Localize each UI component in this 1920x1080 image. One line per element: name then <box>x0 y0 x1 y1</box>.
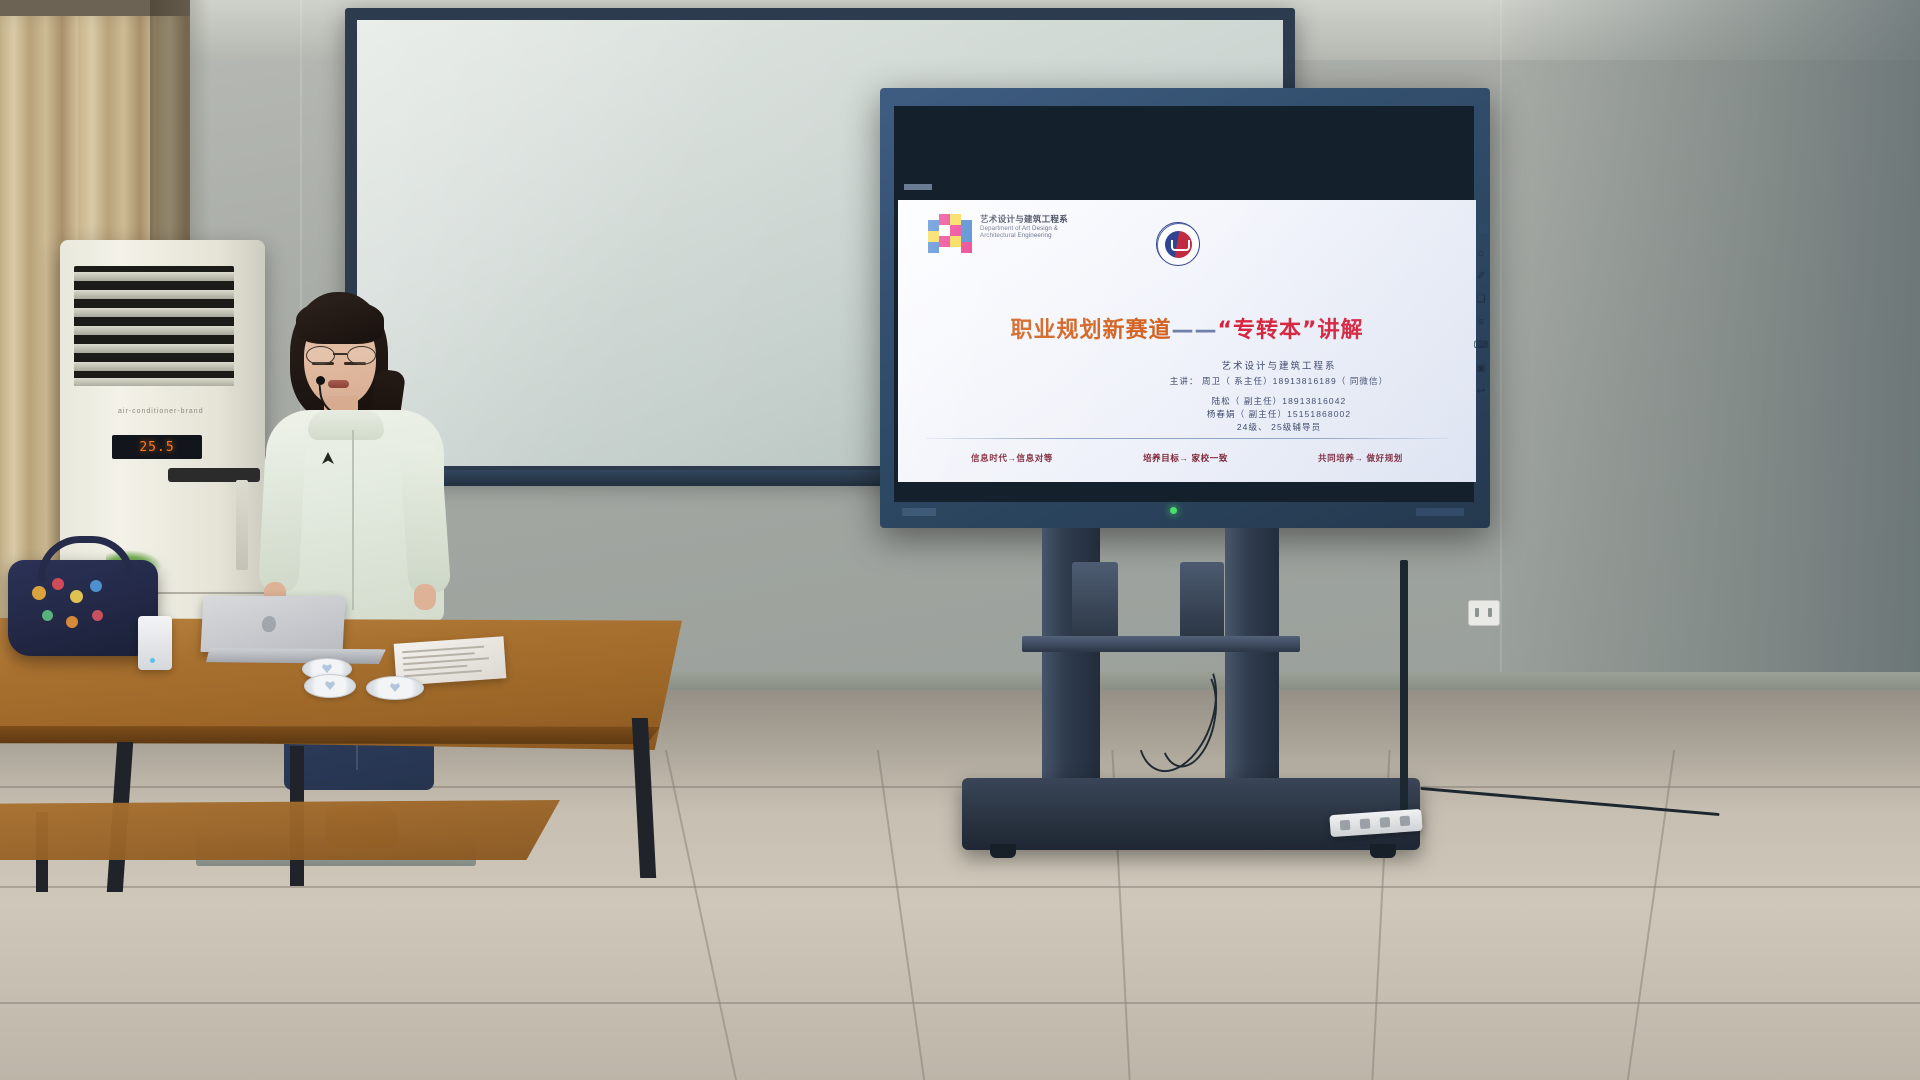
smart-display-assembly[interactable]: 艺术设计与建筑工程系 Department of Art Design & Ar… <box>880 88 1490 528</box>
jacket-hood <box>308 410 384 440</box>
portable-speaker[interactable] <box>138 616 172 670</box>
department-colorblock-logo <box>928 214 972 258</box>
bag-ornament <box>42 610 53 621</box>
display-ir-sensor <box>902 508 936 516</box>
display-stand-shelf <box>1022 636 1300 652</box>
subtitle-line-4: 24级、 25级辅导员 <box>1114 421 1444 434</box>
subtitle-line-3: 杨春娟（ 副主任）15151868002 <box>1114 408 1444 421</box>
microphone-capsule <box>316 376 325 385</box>
display-screen[interactable]: 艺术设计与建筑工程系 Department of Art Design & Ar… <box>898 200 1476 482</box>
classroom-photo-scene: air-conditioner-brand 25.5 <box>0 0 1920 1080</box>
seal-emblem <box>1165 231 1192 258</box>
presenter-hair-front <box>296 300 384 344</box>
socket-slot <box>1475 608 1479 617</box>
footer-item-2: 培养目标→ 家校一致 <box>1143 452 1228 464</box>
floor-tile-line <box>0 886 1920 888</box>
title-dash: —— <box>1172 318 1218 343</box>
display-side-toolbar[interactable]: ⌂ ✐ ❑ ≡ ⌨ ▣ ↩ <box>1470 246 1492 398</box>
eyeglasses <box>306 346 374 363</box>
slide-footer: 信息时代→信息对等 培养目标→ 家校一致 共同培养→ 做好规划 <box>926 452 1448 464</box>
title-quote-close: ” <box>1302 318 1317 343</box>
pen-icon[interactable]: ✐ <box>1474 269 1488 283</box>
title-quote-open: “ <box>1218 318 1233 343</box>
bag-ornament <box>66 616 78 628</box>
speaker-led <box>150 658 155 663</box>
bag-ornament <box>90 580 102 592</box>
bag-ornament <box>92 610 103 621</box>
laptop-logo <box>262 616 277 632</box>
jacket-emblem-icon <box>322 452 334 464</box>
title-part2: 讲解 <box>1317 318 1363 343</box>
stand-equipment-box-left <box>1072 562 1118 638</box>
ac-temperature-display: 25.5 <box>112 435 202 459</box>
slide-title: 职业规划新赛道——“专转本”讲解 <box>898 312 1476 344</box>
picture-icon[interactable]: ▣ <box>1474 361 1488 375</box>
title-highlight: 专转本 <box>1233 318 1302 343</box>
back-icon[interactable]: ↩ <box>1474 384 1488 398</box>
menu-icon[interactable]: ≡ <box>1474 315 1488 329</box>
stand-caster <box>990 844 1016 858</box>
desk-coaster <box>304 674 356 698</box>
ac-air-grille <box>74 266 234 386</box>
department-name-block: 艺术设计与建筑工程系 Department of Art Design & Ar… <box>980 214 1068 240</box>
display-bezel: 艺术设计与建筑工程系 Department of Art Design & Ar… <box>880 88 1490 528</box>
window-icon[interactable]: ❑ <box>1474 292 1488 306</box>
slide-divider-rule <box>926 438 1448 439</box>
ac-side-vent <box>236 480 248 570</box>
presenter-person <box>262 292 448 622</box>
slide-department-header: 艺术设计与建筑工程系 Department of Art Design & Ar… <box>928 214 1068 258</box>
school-seal <box>1156 222 1200 266</box>
ac-temperature-value: 25.5 <box>139 440 174 455</box>
footer-item-3: 共同培养→ 做好规划 <box>1318 452 1403 464</box>
wall-cable-drop <box>1400 560 1408 810</box>
desk-coaster <box>366 676 424 700</box>
bag-ornament <box>32 586 46 600</box>
stand-caster <box>1370 844 1396 858</box>
department-name-en-2: Architectural Engineering <box>980 232 1068 240</box>
presentation-slide: 艺术设计与建筑工程系 Department of Art Design & Ar… <box>898 200 1476 482</box>
department-name-cn: 艺术设计与建筑工程系 <box>980 214 1068 225</box>
socket-slot <box>1488 608 1492 617</box>
home-icon[interactable]: ⌂ <box>1474 246 1488 260</box>
slide-subtitle-block: 艺术设计与建筑工程系 主讲： 周卫（ 系主任）18913816189（ 同微信）… <box>1114 360 1444 434</box>
keyboard-icon[interactable]: ⌨ <box>1474 338 1488 352</box>
bag-ornament <box>52 578 64 590</box>
open-laptop[interactable] <box>201 596 346 652</box>
display-brand-plate <box>1416 508 1464 516</box>
display-brand-logo <box>904 184 932 190</box>
footer-item-1: 信息时代→信息对等 <box>971 452 1053 464</box>
subtitle-line-1: 主讲： 周卫（ 系主任）18913816189（ 同微信） <box>1114 375 1444 388</box>
desk-edge <box>0 726 660 744</box>
ac-brand-mark: air-conditioner-brand <box>118 408 204 415</box>
laptop-keyboard-base[interactable] <box>206 648 386 664</box>
stand-equipment-box-right <box>1180 562 1224 638</box>
wall-power-socket[interactable] <box>1468 600 1500 626</box>
floor-tile-line <box>0 1002 1920 1004</box>
department-name-en-1: Department of Art Design & <box>980 225 1068 233</box>
embroidered-backpack <box>8 560 158 656</box>
presenter-right-hand <box>414 584 436 610</box>
display-indicator-square <box>1479 224 1488 233</box>
display-power-led <box>1170 507 1177 514</box>
title-part1: 职业规划新赛道 <box>1011 318 1172 343</box>
display-stand-column-right <box>1225 528 1279 786</box>
bag-ornament <box>70 590 83 603</box>
subtitle-line-2: 陆松（ 副主任）18913816042 <box>1114 395 1444 408</box>
subtitle-lead: 艺术设计与建筑工程系 <box>1114 360 1444 375</box>
jacket-zipper <box>352 430 354 610</box>
presenter-left-arm <box>258 441 306 593</box>
secondary-desk <box>0 800 560 860</box>
